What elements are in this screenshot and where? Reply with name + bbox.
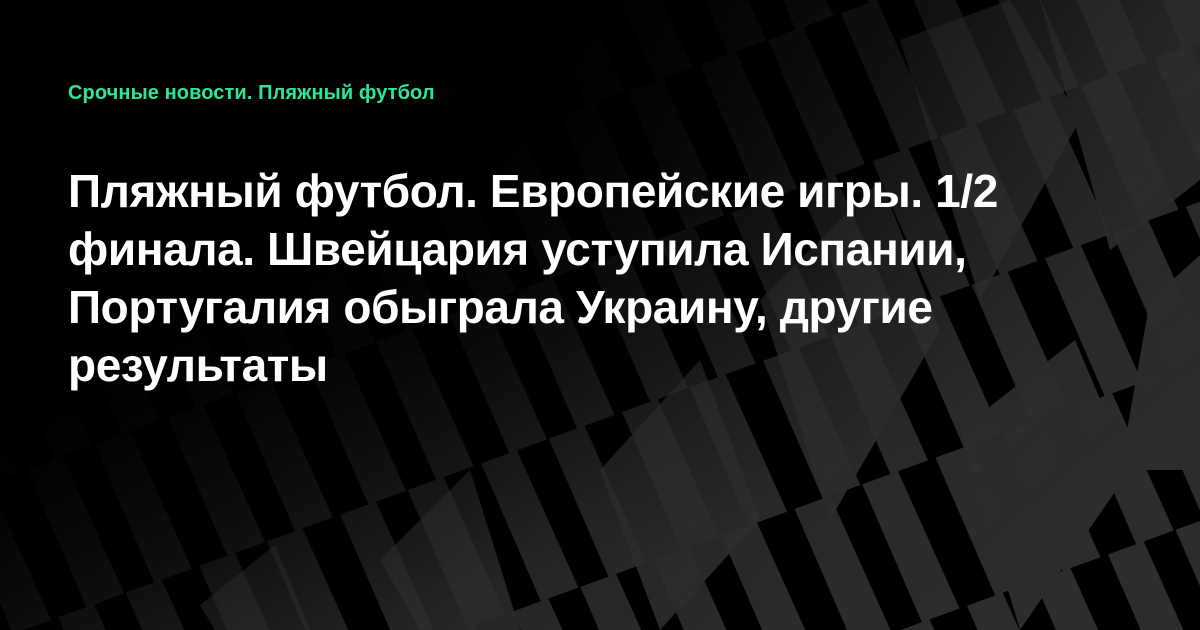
kicker-label: Срочные новости. Пляжный футбол — [68, 80, 435, 106]
headline-line: Португалия обыграла Украину, другие — [68, 278, 1098, 336]
social-share-card: Срочные новости. Пляжный футбол Пляжный … — [0, 0, 1200, 630]
headline-line: Пляжный футбол. Европейские игры. 1/2 — [68, 162, 1098, 220]
page-title: Пляжный футбол. Европейские игры. 1/2 фи… — [68, 162, 1098, 394]
headline-line: результаты — [68, 336, 1098, 394]
headline-line: финала. Швейцария уступила Испании, — [68, 220, 1098, 278]
